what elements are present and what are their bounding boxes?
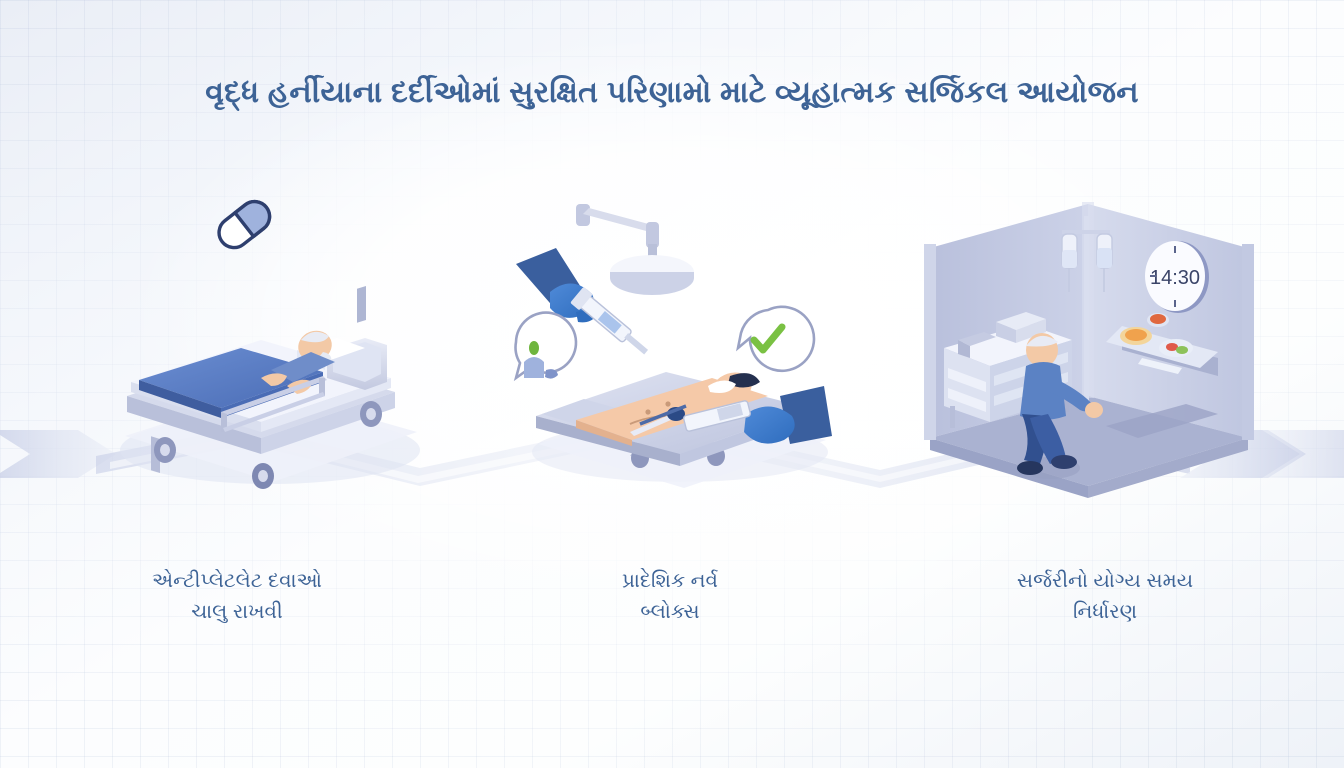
step-2-caption-line-2: બ્લોક્સ	[505, 597, 835, 628]
step-2-caption-line-1: પ્રાદેશિક નર્વ	[505, 566, 835, 597]
surgery-scene	[480, 200, 860, 500]
step-1-caption-line-1: એન્ટીપ્લેટલેટ દવાઓ	[72, 566, 402, 597]
step-3-illustration: 14:30	[900, 200, 1280, 500]
recovery-room-scene: 14:30	[900, 200, 1280, 500]
capsule-pill-icon	[213, 196, 276, 254]
step-3-caption-line-1: સર્જરીનો યોગ્ય સમય	[940, 566, 1270, 597]
step-2-illustration	[480, 200, 860, 500]
surgical-lamp-icon	[576, 204, 694, 295]
green-check-badge-icon	[738, 307, 814, 371]
page-title: વૃદ્ધ હર્નીયાના દર્દીઓમાં સુરક્ષિત પરિણા…	[0, 74, 1344, 112]
clock-time-label: 14:30	[1150, 267, 1200, 289]
patient-shoe-back	[1017, 461, 1043, 475]
step-1-illustration	[65, 200, 445, 500]
patient-hand	[1085, 402, 1103, 418]
syringe-upper-icon	[570, 287, 652, 361]
patient-care-badge-icon	[516, 313, 576, 379]
patient-shoe-front	[1051, 455, 1077, 469]
step-1-caption: એન્ટીપ્લેટલેટ દવાઓ ચાલુ રાખવી	[72, 566, 402, 628]
step-3-caption: સર્જરીનો યોગ્ય સમય નિર્ધારણ	[940, 566, 1270, 628]
step-2-caption: પ્રાદેશિક નર્વ બ્લોક્સ	[505, 566, 835, 628]
step-1-caption-line-2: ચાલુ રાખવી	[72, 597, 402, 628]
leaf-icon	[529, 341, 539, 355]
hospital-bed-scene	[65, 200, 445, 500]
step-3-caption-line-2: નિર્ધારણ	[940, 597, 1270, 628]
